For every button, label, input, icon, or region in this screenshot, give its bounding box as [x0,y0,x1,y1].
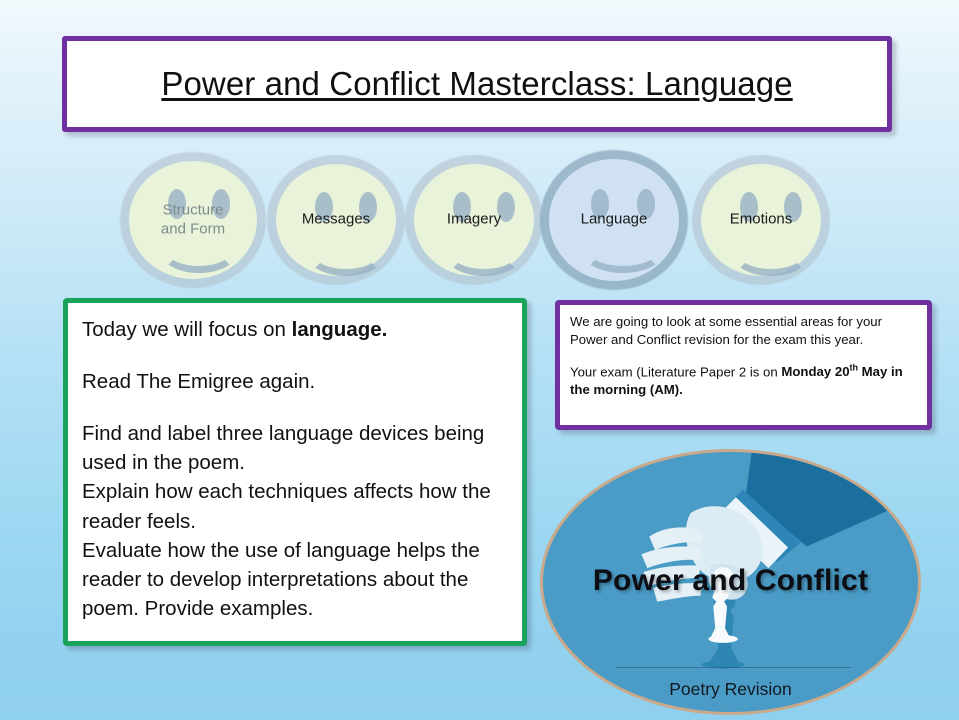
info-exam-date-text: Monday 20 [781,364,849,379]
info-exam-line: Your exam (Literature Paper 2 is on Mond… [570,362,917,399]
exam-info-box: We are going to look at some essential a… [555,300,932,430]
smiley-imagery[interactable]: Imagery [405,155,543,285]
power-and-conflict-graphic: Power and Conflict Poetry Revision [540,449,921,715]
task-brown-line: Explain how each techniques affects how … [82,477,508,535]
smiley-label-line1: Messages [267,211,405,230]
spacer [82,396,508,419]
spacer [570,349,917,362]
smiley-label-line1: Structure [120,201,266,220]
title-box: Power and Conflict Masterclass: Language [62,36,892,132]
spacer [82,344,508,367]
smiley-label-line1: Language [540,211,688,230]
task-focus-bold: language. [292,318,388,341]
pc-subtitle: Poetry Revision [543,679,918,700]
topic-smiley-row: Structure and Form Messages Im [120,150,920,290]
info-paragraph-1: We are going to look at some essential a… [570,313,917,349]
smiley-label: Emotions [692,211,830,230]
task-green-line: Evaluate how the use of language helps t… [82,536,508,623]
page-title: Power and Conflict Masterclass: Language [161,65,792,103]
smiley-structure-and-form[interactable]: Structure and Form [120,152,266,288]
task-focus-prefix: Today we will focus on [82,318,292,341]
smiley-label: Language [540,211,688,230]
task-red-line: Find and label three language devices be… [82,419,508,477]
pc-ellipse: Power and Conflict Poetry Revision [540,449,921,715]
pc-divider [616,667,851,668]
pc-title: Power and Conflict [543,564,918,598]
smiley-mouth-icon [445,232,523,276]
info-exam-prefix: Your exam (Literature Paper 2 is on [570,364,781,379]
smiley-label: Imagery [405,211,543,230]
smiley-messages[interactable]: Messages [267,155,405,285]
smiley-label-line2: and Form [120,220,266,239]
smiley-label: Messages [267,211,405,230]
smiley-language[interactable]: Language [540,150,688,290]
slide-canvas: Power and Conflict Masterclass: Language… [0,0,959,720]
task-box: Today we will focus on language. Read Th… [63,298,527,646]
smiley-emotions[interactable]: Emotions [692,155,830,285]
smiley-label-line1: Emotions [692,211,830,230]
smiley-label: Structure and Form [120,201,266,239]
smiley-mouth-icon [307,232,385,276]
smiley-mouth-icon [732,232,810,276]
task-focus-line: Today we will focus on language. [82,315,508,344]
smiley-label-line1: Imagery [405,211,543,230]
smiley-mouth-icon [582,229,664,273]
task-read-line: Read The Emigree again. [82,367,508,396]
info-exam-date-superscript: th [850,363,858,373]
